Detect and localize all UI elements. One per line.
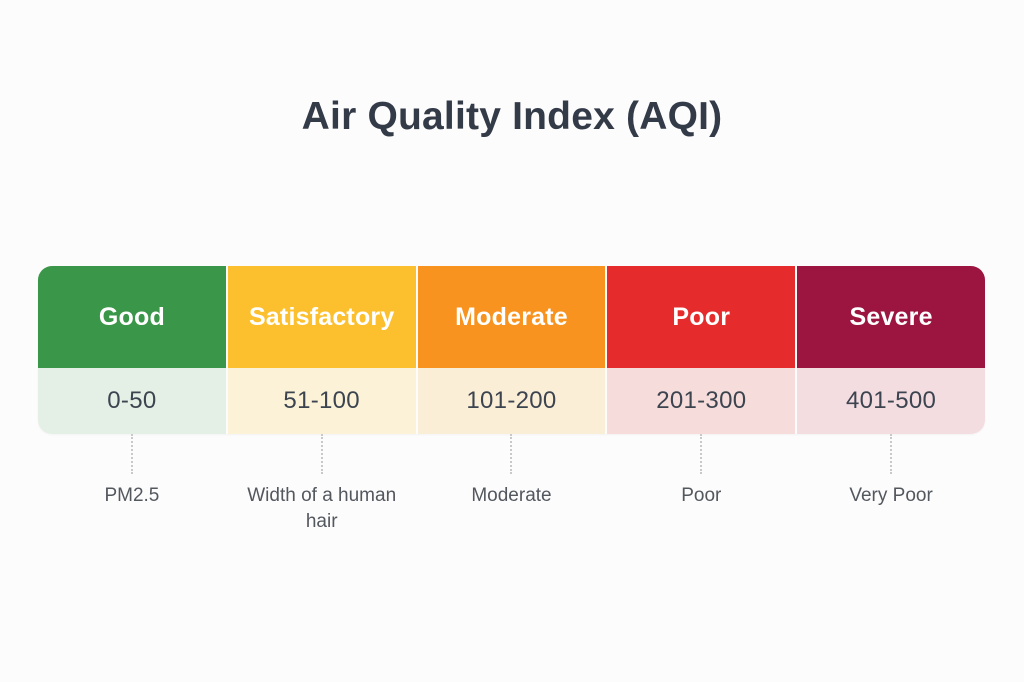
aqi-segment-satisfactory[interactable]: Satisfactory 51-100 (228, 266, 416, 434)
callout-good: PM2.5 (38, 434, 226, 554)
segment-label: Severe (797, 266, 985, 368)
callout-poor: Poor (607, 434, 795, 554)
segment-range: 201-300 (607, 368, 795, 434)
aqi-segment-moderate[interactable]: Moderate 101-200 (418, 266, 606, 434)
dotted-connector-icon (131, 434, 133, 474)
callout-satisfactory: Width of a human hair (228, 434, 416, 554)
segment-range: 0-50 (38, 368, 226, 434)
callout-label: Poor (681, 483, 721, 509)
callout-moderate: Moderate (418, 434, 606, 554)
dotted-connector-icon (890, 434, 892, 474)
dotted-connector-icon (510, 434, 512, 474)
segment-range: 101-200 (418, 368, 606, 434)
page-title: Air Quality Index (AQI) (0, 95, 1024, 139)
aqi-segment-severe[interactable]: Severe 401-500 (797, 266, 985, 434)
callout-row: PM2.5 Width of a human hair Moderate Poo… (38, 434, 985, 554)
callout-label: Width of a human hair (234, 483, 409, 535)
segment-label: Satisfactory (228, 266, 416, 368)
dotted-connector-icon (321, 434, 323, 474)
aqi-segment-poor[interactable]: Poor 201-300 (607, 266, 795, 434)
callout-label: Moderate (471, 483, 551, 509)
callout-severe: Very Poor (797, 434, 985, 554)
callout-label: PM2.5 (104, 483, 159, 509)
segment-label: Poor (607, 266, 795, 368)
aqi-scale-band: Good 0-50 Satisfactory 51-100 Moderate 1… (38, 266, 985, 434)
segment-label: Good (38, 266, 226, 368)
segment-range: 401-500 (797, 368, 985, 434)
dotted-connector-icon (700, 434, 702, 474)
aqi-segment-good[interactable]: Good 0-50 (38, 266, 226, 434)
segment-range: 51-100 (228, 368, 416, 434)
segment-label: Moderate (418, 266, 606, 368)
callout-label: Very Poor (849, 483, 932, 509)
